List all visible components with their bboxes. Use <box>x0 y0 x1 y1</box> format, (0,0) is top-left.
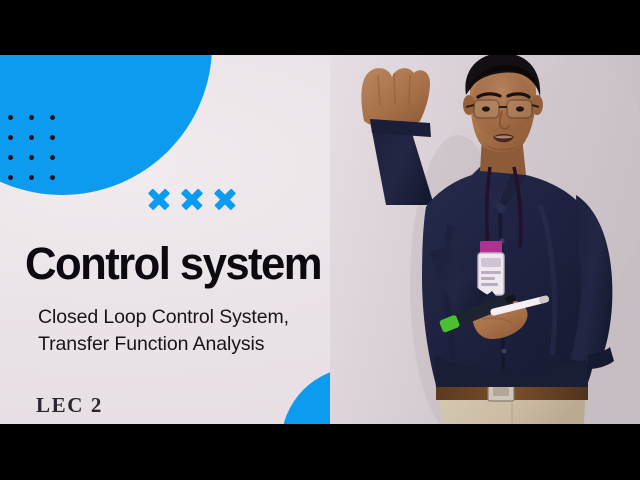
letterbox-bar-top <box>0 0 640 55</box>
grid-dot <box>8 175 13 180</box>
grid-dot <box>29 115 34 120</box>
grid-dot <box>29 135 34 140</box>
lecture-number-tag: LEC 2 <box>36 393 103 418</box>
x-mark-icon <box>179 186 205 212</box>
grid-dot <box>8 155 13 160</box>
x-marks-decoration <box>146 186 238 212</box>
x-mark-icon <box>146 186 172 212</box>
slide-subtitle: Closed Loop Control System, Transfer Fun… <box>38 304 289 358</box>
dot-grid-icon <box>8 115 71 195</box>
presenter-figure <box>330 55 640 424</box>
slide-stage: Control system Closed Loop Control Syste… <box>0 55 640 424</box>
slide-title: Control system <box>25 241 321 286</box>
presenter-illustration <box>330 55 640 424</box>
grid-dot <box>50 135 55 140</box>
letterbox-bar-bottom <box>0 424 640 480</box>
subtitle-line-1: Closed Loop Control System, <box>38 304 289 331</box>
subtitle-line-2: Transfer Function Analysis <box>38 331 289 358</box>
video-frame: Control system Closed Loop Control Syste… <box>0 0 640 480</box>
grid-dot <box>50 175 55 180</box>
x-mark-icon <box>212 186 238 212</box>
grid-dot <box>50 115 55 120</box>
grid-dot <box>50 155 55 160</box>
grid-dot <box>29 155 34 160</box>
grid-dot <box>8 135 13 140</box>
grid-dot <box>8 115 13 120</box>
grid-dot <box>29 175 34 180</box>
